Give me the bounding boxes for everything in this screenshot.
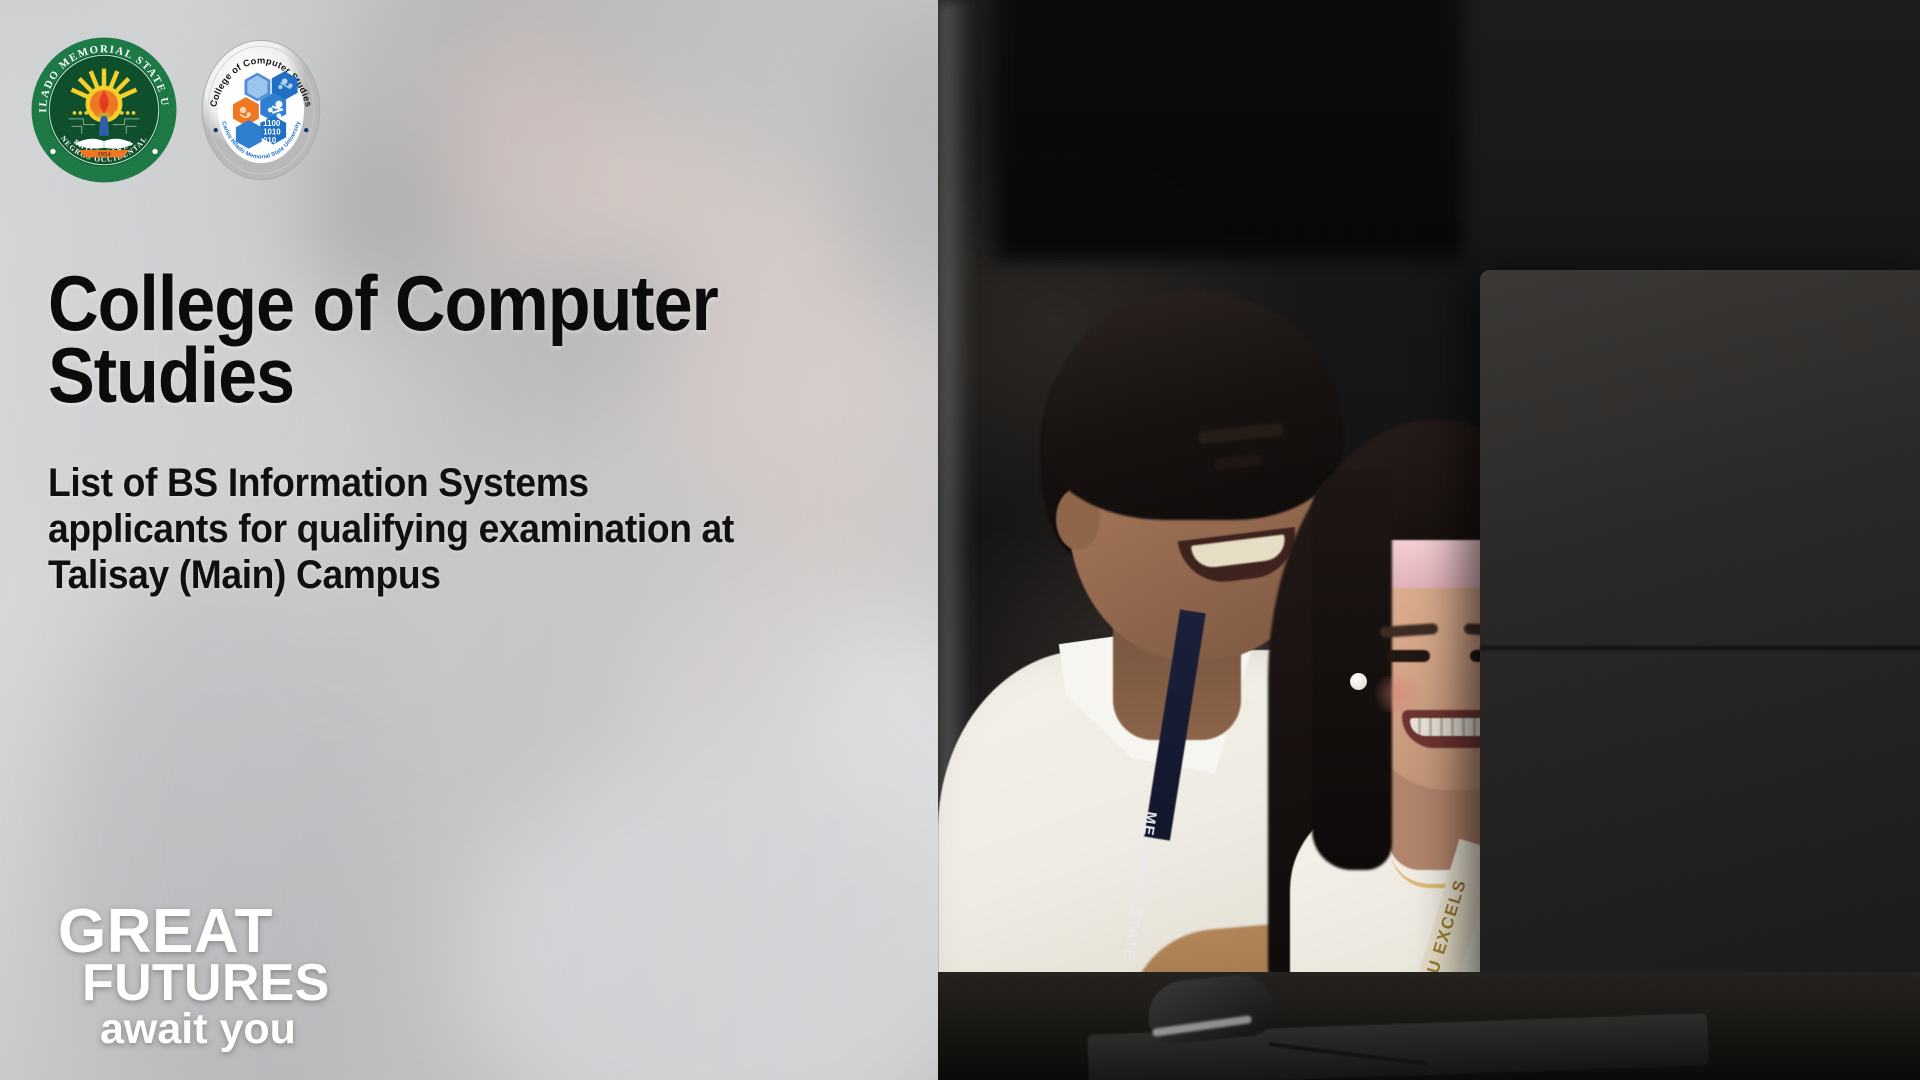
chmsu-seal-icon: CARLOS HILADO MEMORIAL STATE UNIVERSITY … (30, 36, 178, 184)
computer-monitor (1480, 270, 1920, 1010)
page-title: College of Computer Studies (48, 268, 786, 412)
tagline-line-await-you: await you (100, 1011, 330, 1048)
svg-text:1954: 1954 (97, 151, 111, 158)
page-subtitle: List of BS Information Systems applicant… (48, 460, 764, 599)
student-photo-panel: MEMORIAL STATE CHMSU EXCELS (938, 0, 1920, 1080)
tagline-line-futures: FUTURES (82, 961, 330, 1006)
binary-line-1: 1100 (263, 119, 281, 128)
ccs-seal-icon: College of Computer Studies Carlos Hilad… (200, 36, 322, 184)
logo-row: CARLOS HILADO MEMORIAL STATE UNIVERSITY … (30, 36, 322, 184)
poster-canvas: CARLOS HILADO MEMORIAL STATE UNIVERSITY … (0, 0, 1920, 1080)
photo-wall-panel (994, 0, 1464, 260)
poster-copy-block: College of Computer Studies List of BS I… (48, 268, 868, 599)
great-futures-tagline: GREAT FUTURES await you (58, 905, 330, 1048)
binary-line-3: 010 (263, 136, 277, 145)
tagline-line-great: GREAT (58, 905, 330, 958)
binary-line-2: 1010 (263, 127, 281, 136)
monitor-seam (1480, 646, 1920, 650)
left-content-panel: CARLOS HILADO MEMORIAL STATE UNIVERSITY … (0, 0, 938, 1080)
